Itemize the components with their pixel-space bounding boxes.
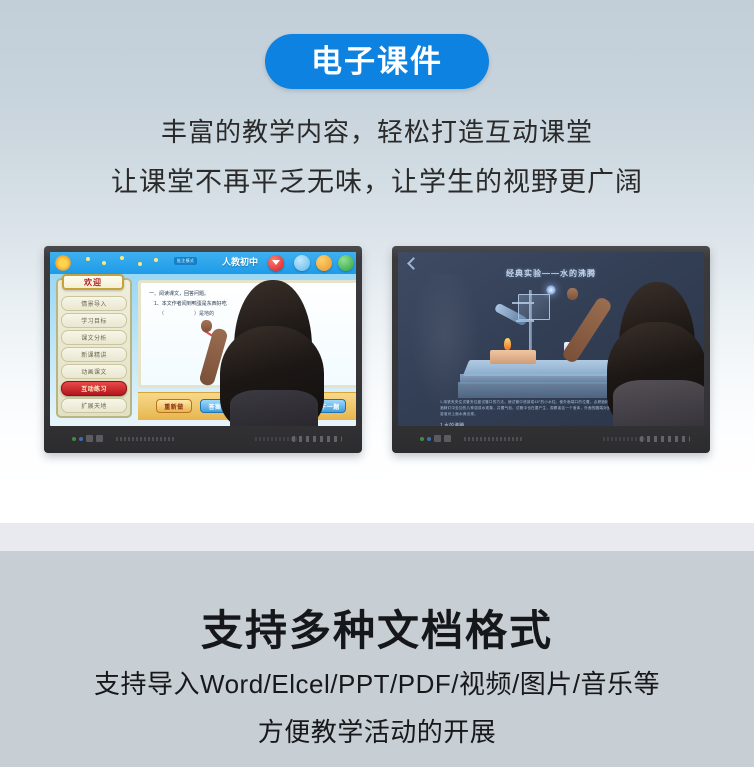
panel-speaker-grille-right: [640, 436, 690, 442]
panel-brand-logo-right: [464, 437, 522, 441]
panel-control-buttons-left[interactable]: [72, 435, 103, 442]
annotation-mode-label[interactable]: 批注模式: [174, 257, 197, 265]
lantern-decoration-icon: [80, 252, 170, 272]
panel-model-label-left: [255, 437, 297, 441]
courseware-app: 批注模式 人教初中 欢迎 情景导入 学习目标 课文分析 新课精讲 动画课文 互动…: [50, 252, 356, 426]
menu-item-new-lesson[interactable]: 新课精讲: [61, 347, 127, 362]
menu-item-objectives[interactable]: 学习目标: [61, 313, 127, 328]
redo-button[interactable]: 重新做: [156, 399, 192, 413]
star-decoration-icon: [54, 254, 72, 272]
section-badge: 电子课件: [265, 34, 489, 89]
courseware-menu: 情景导入 学习目标 课文分析 新课精讲 动画课文 互动练习 扩展天地: [61, 296, 127, 415]
courseware-welcome-title: 欢迎: [62, 274, 124, 290]
section-divider-white: [0, 484, 754, 523]
menu-item-interactive-practice[interactable]: 互动练习: [61, 381, 127, 396]
menu-item-scenario[interactable]: 情景导入: [61, 296, 127, 311]
student-silhouette-right: [573, 256, 704, 426]
menu-item-extension[interactable]: 扩展天地: [61, 398, 127, 413]
formats-title: 支持多种文档格式: [0, 597, 754, 658]
panel-brand-logo-left: [116, 437, 174, 441]
panel-bezel-bottom-left: [50, 426, 356, 453]
menu-item-text-analysis[interactable]: 课文分析: [61, 330, 127, 345]
interactive-panel-right: 经典实验——水的沸腾 1.用铁夹夹住试管夹住盛试管口的方法。使试管中底部成45°…: [392, 246, 710, 453]
panel-speaker-grille-left: [292, 436, 342, 442]
formats-subtitle-1: 支持导入Word/Elcel/PPT/PDF/视频/图片/音乐等: [0, 664, 754, 701]
hero-tagline-2: 让课堂不再平乏无味，让学生的视野更广阔: [0, 160, 754, 199]
panel-control-buttons-right[interactable]: [420, 435, 451, 442]
panel-model-label-right: [603, 437, 645, 441]
section-divider-light: [0, 523, 754, 551]
formats-section: 支持多种文档格式 支持导入Word/Elcel/PPT/PDF/视频/图片/音乐…: [0, 551, 754, 767]
stand-base: [490, 350, 536, 364]
formats-subtitle-2: 方便教学活动的开展: [0, 712, 754, 749]
student-silhouette-left: [200, 262, 340, 426]
hero-tagline-1: 丰富的教学内容，轻松打造互动课堂: [0, 112, 754, 149]
experiment-app: 经典实验——水的沸腾 1.用铁夹夹住试管夹住盛试管口的方法。使试管中底部成45°…: [398, 252, 704, 426]
section-badge-label: 电子课件: [311, 46, 443, 77]
panel-screen-left: 批注模式 人教初中 欢迎 情景导入 学习目标 课文分析 新课精讲 动画课文 互动…: [50, 252, 356, 426]
alcohol-burner-flame: [504, 338, 511, 350]
panel-bezel-bottom-right: [398, 426, 704, 453]
menu-item-animation[interactable]: 动画课文: [61, 364, 127, 379]
volume-icon[interactable]: [338, 255, 354, 271]
hero-section: 电子课件 丰富的教学内容，轻松打造互动课堂 让课堂不再平乏无味，让学生的视野更广…: [0, 0, 754, 523]
panel-screen-right: 经典实验——水的沸腾 1.用铁夹夹住试管夹住盛试管口的方法。使试管中底部成45°…: [398, 252, 704, 426]
interactive-panel-left: 批注模式 人教初中 欢迎 情景导入 学习目标 课文分析 新课精讲 动画课文 互动…: [44, 246, 362, 453]
